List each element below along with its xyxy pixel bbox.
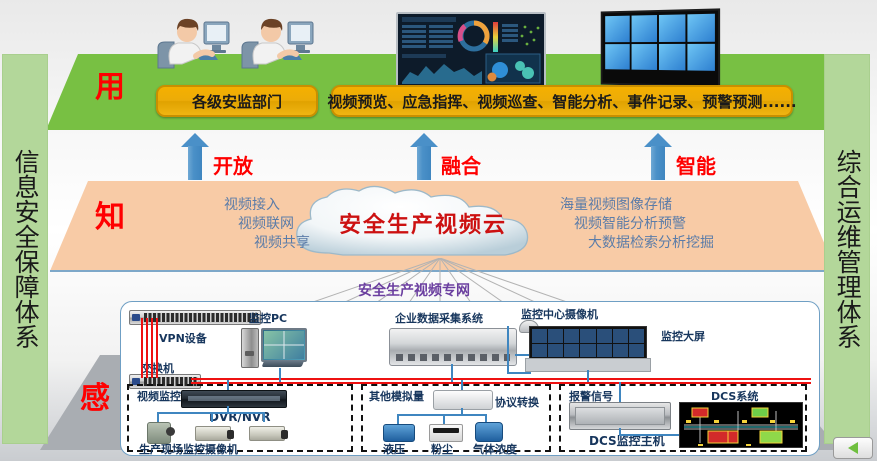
blue-link-wall: [587, 370, 589, 382]
blue-link-sensor-1: [397, 414, 399, 424]
arrow-label-open: 开放: [213, 150, 253, 179]
arrow-open: [181, 133, 209, 180]
vpn-device-label: VPN设备: [159, 330, 207, 346]
corner-play-badge[interactable]: [833, 437, 873, 459]
blue-link-collect-v: [451, 364, 453, 382]
blue-link-conv-up: [461, 380, 463, 390]
cloud-title: 安全生产视频云: [283, 185, 563, 261]
departments-box[interactable]: 各级安监部门: [156, 85, 318, 117]
cloud-right-line-2: 视频智能分析预警: [574, 215, 790, 234]
dcs-host-icon: [569, 402, 671, 430]
cloud-left-capabilities: 视频接入 视频联网 视频共享: [130, 196, 280, 253]
operator-person-1-icon: [152, 12, 230, 74]
arrow-label-smart: 智能: [676, 150, 716, 179]
sensor-label-gas: 气体浓度: [473, 441, 517, 456]
arrow-fuse: [410, 133, 438, 180]
red-bus-1: [191, 378, 811, 380]
cloud-left-line-1: 视频接入: [130, 196, 280, 215]
cloud-shape: 安全生产视频云: [283, 185, 563, 261]
cloud-left-line-2: 视频联网: [130, 215, 294, 234]
blue-link-dcs-h: [619, 434, 679, 436]
red-link-v3: [151, 318, 153, 378]
sensor-label-dust: 粉尘: [431, 441, 453, 456]
data-collect-label: 企业数据采集系统: [395, 310, 483, 326]
blue-link-cam: [507, 326, 509, 372]
functions-box[interactable]: 视频预览、应急指挥、视频巡查、智能分析、事件记录、预警预测......: [331, 85, 793, 117]
blue-link-dvr-up: [227, 380, 229, 390]
red-link-v4: [156, 318, 158, 378]
protocol-converter-label: 协议转换: [495, 394, 539, 410]
pc-monitor-icon: [261, 328, 307, 362]
pc-keyboard-icon: [262, 360, 305, 367]
departments-box-label: 各级安监部门: [192, 91, 282, 112]
monitor-pc-label: 监控PC: [249, 310, 287, 326]
video-group-title: 视频监控: [137, 388, 181, 404]
dcs-system-screen-icon: [679, 402, 803, 448]
gas-sensor-icon: [475, 422, 503, 442]
big-screen-label: 监控大屏: [661, 328, 705, 344]
functions-box-label: 视频预览、应急指挥、视频巡查、智能分析、事件记录、预警预测......: [327, 91, 796, 112]
sidebar-integrated-om: 综合运维管理体系: [824, 54, 870, 444]
cloud-right-line-1: 海量视频图像存储: [560, 196, 790, 215]
pc-tower-icon: [241, 328, 259, 368]
arrow-smart: [644, 133, 672, 180]
dashboard-screen-image: [396, 12, 546, 88]
hydraulic-sensor-icon: [383, 424, 415, 442]
arrow-label-fuse: 融合: [441, 150, 481, 179]
sensor-label-hydraulic: 液压: [383, 441, 405, 456]
sidebar-right-label: 综合运维管理体系: [834, 149, 860, 349]
red-link-v1: [141, 318, 143, 378]
blue-link-dvr-d1: [157, 412, 159, 422]
sidebar-information-security: 信息安全保障体系: [2, 54, 48, 444]
infrastructure-panel: VPN设备 交换机 监控PC 企业数据采集系统 监控中心摄像机: [120, 301, 820, 456]
blue-link-pc: [279, 368, 281, 382]
bullet-camera-1-icon: [195, 426, 231, 441]
operator-person-2-icon: [236, 12, 314, 74]
red-link-v2: [146, 318, 148, 378]
control-room-wall-icon: [529, 326, 647, 360]
vpn-device-icon: [129, 310, 261, 325]
video-wall-image: [601, 8, 720, 87]
blue-link-dvr-stem: [227, 406, 229, 414]
analog-group-title: 其他模拟量: [369, 388, 424, 404]
blue-link-sensor-bus: [397, 414, 487, 416]
sidebar-left-label: 信息安全保障体系: [12, 149, 38, 349]
protocol-converter-icon: [433, 390, 493, 410]
video-group-caption: 生产现场监控摄像机: [139, 441, 238, 456]
blue-link-sensor-2: [443, 414, 445, 424]
cloud-right-capabilities: 海量视频图像存储 视频智能分析预警 大数据检索分析挖掘: [560, 196, 790, 253]
blue-link-dvr-d3: [263, 412, 265, 422]
play-arrow-icon: [848, 442, 858, 454]
dvr-icon: [181, 390, 287, 408]
dust-sensor-icon: [429, 424, 463, 442]
blue-link-cam-h: [507, 372, 531, 374]
layer-label-sense: 感: [80, 373, 110, 417]
private-network-label: 安全生产视频专网: [358, 280, 470, 300]
blue-link-dvr-d2: [211, 412, 213, 422]
bullet-camera-2-icon: [249, 426, 285, 441]
blue-link-sensor-stem: [461, 408, 463, 416]
cloud-right-line-3: 大数据检索分析挖掘: [588, 234, 790, 253]
blue-link-dcs-up: [619, 382, 621, 402]
data-collect-icon: [389, 328, 517, 366]
layer-label-use: 用: [95, 62, 125, 106]
diagram-canvas: 信息安全保障体系 综合运维管理体系 用 知 感 各级安监部门 视频预览、应急指挥…: [0, 0, 877, 461]
layer-label-know: 知: [95, 192, 125, 236]
cloud-left-line-3: 视频共享: [130, 234, 310, 253]
